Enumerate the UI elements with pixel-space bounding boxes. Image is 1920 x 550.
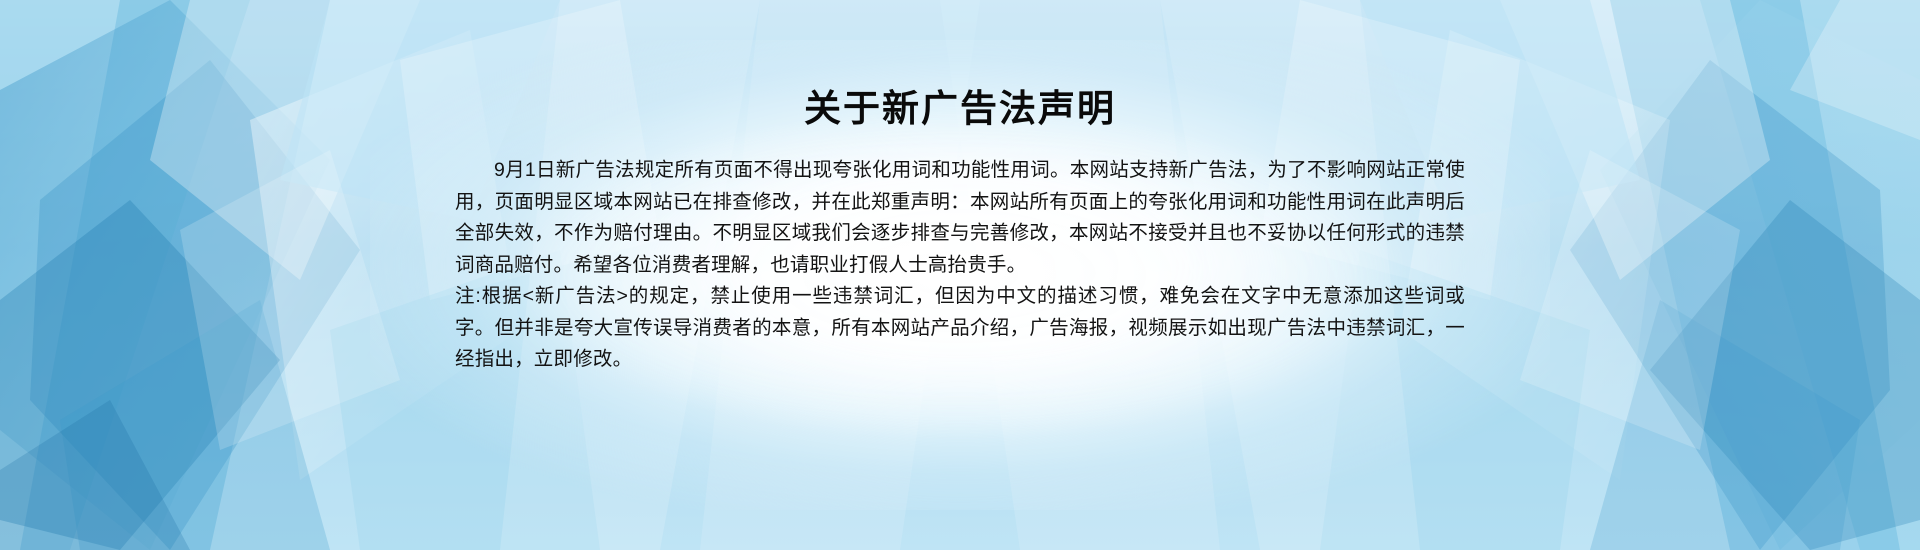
statement-content: 关于新广告法声明 9月1日新广告法规定所有页面不得出现夸张化用词和功能性用词。本… <box>455 0 1465 550</box>
advertising-law-statement-banner: 关于新广告法声明 9月1日新广告法规定所有页面不得出现夸张化用词和功能性用词。本… <box>0 0 1920 550</box>
page-title: 关于新广告法声明 <box>455 86 1465 132</box>
statement-paragraph-2-note: 注:根据<新广告法>的规定，禁止使用一些违禁词汇，但因为中文的描述习惯，难免会在… <box>455 281 1465 376</box>
statement-paragraph-1: 9月1日新广告法规定所有页面不得出现夸张化用词和功能性用词。本网站支持新广告法，… <box>455 155 1465 281</box>
